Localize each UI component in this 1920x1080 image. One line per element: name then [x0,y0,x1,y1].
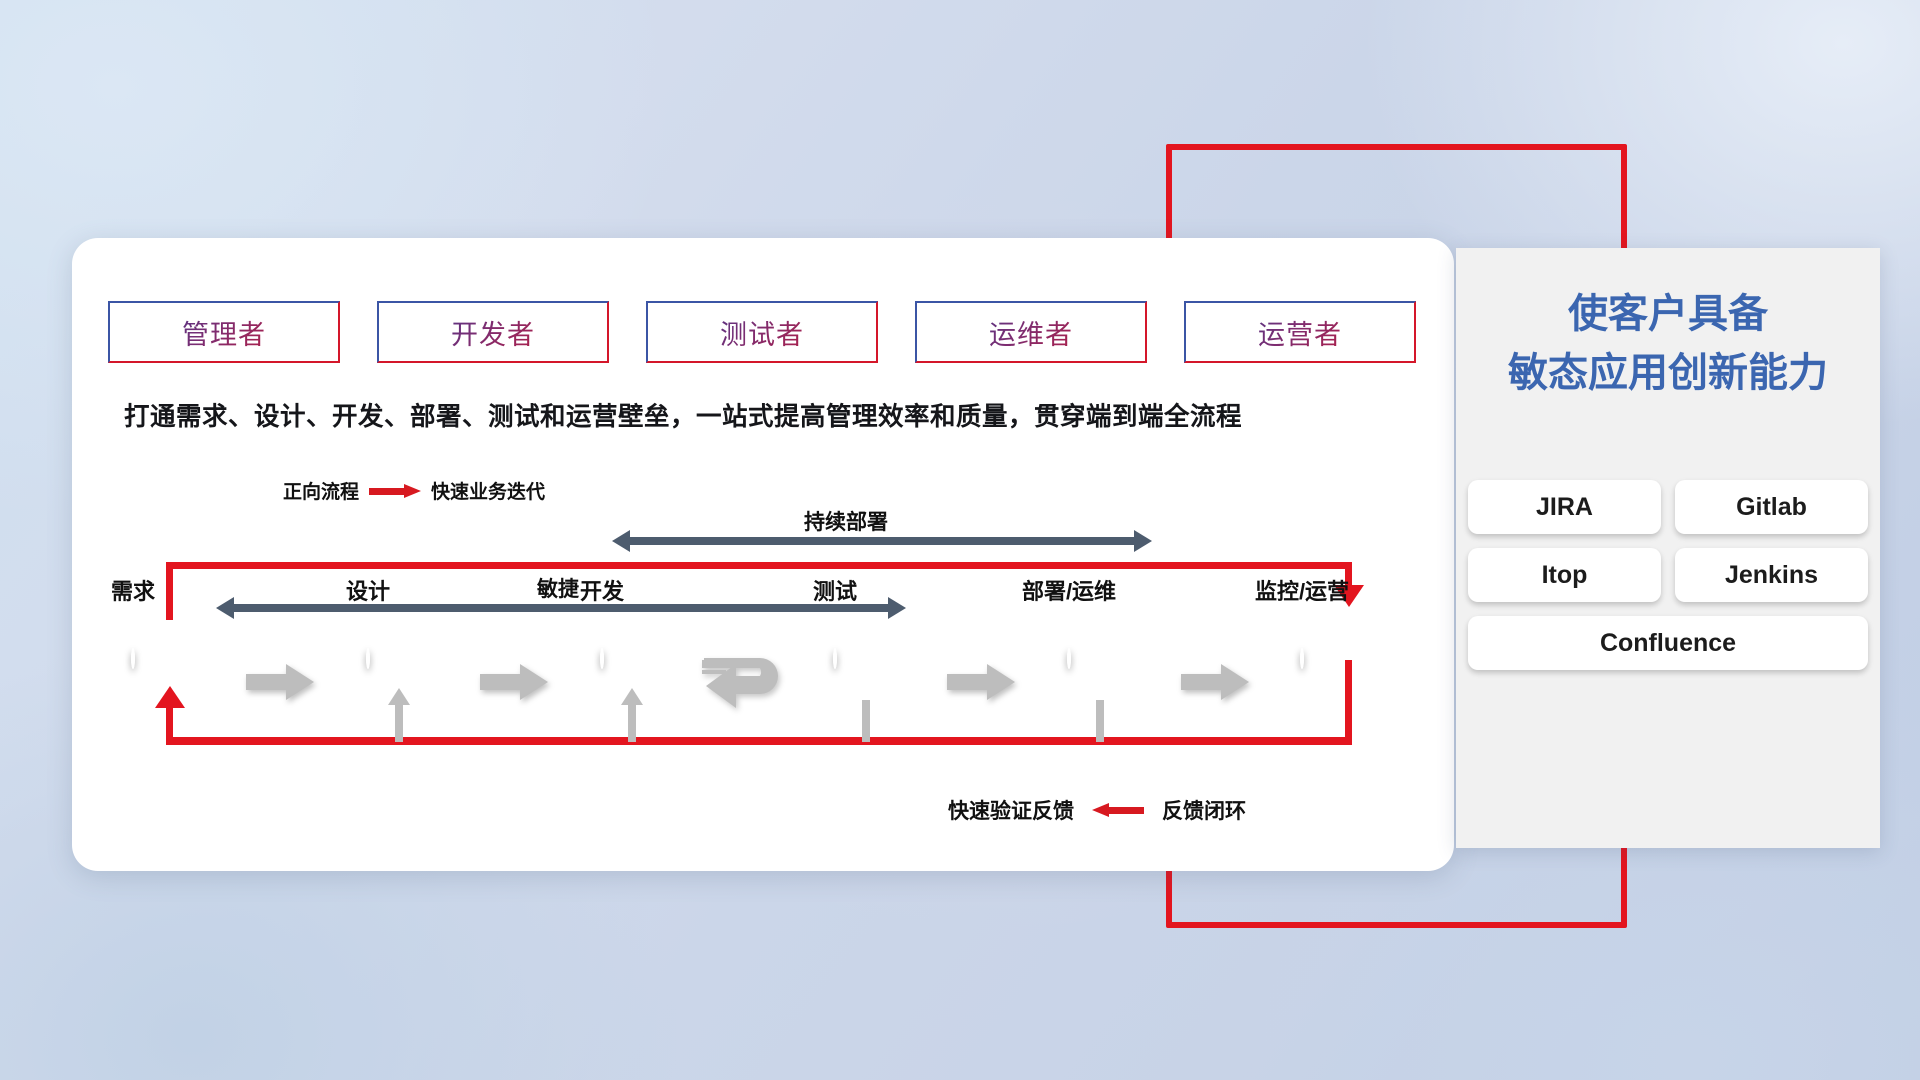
legend-forward-flow: 正向流程 快速业务迭代 [283,477,545,504]
pipeline-loop-left-up [166,705,173,745]
panel-title: 使客户具备 敏态应用创新能力 [1456,290,1880,398]
legend-feedback-left-label: 快速验证反馈 [948,795,1074,825]
panel-title-line1: 使客户具备 [1456,290,1880,339]
stage-dot-design [366,648,370,669]
stage-label-requirement: 需求 [111,574,155,606]
stem-deploy [1096,700,1104,742]
pipeline-loop-right-side [1345,660,1352,745]
legend-forward-left-label: 正向流程 [283,477,359,504]
pipeline-arrowhead-up [155,686,185,708]
stage-monitor-operate[interactable]: 监控/运营 [1300,650,1304,668]
stem-design [395,700,403,742]
panel-title-line2: 敏态应用创新能力 [1456,349,1880,398]
span-arrow-continuous-deployment [612,530,1152,552]
legend-forward-right-label: 快速业务迭代 [431,477,545,504]
stage-dot-develop [600,648,604,669]
stem-test [862,700,870,742]
pipeline-loop-bottom [166,737,1352,745]
red-arrow-right-icon [369,484,421,498]
block-arrow-req-to-design [246,662,314,702]
tool-chip-jira[interactable]: JIRA [1468,480,1661,534]
stem-arrow-develop [621,688,643,705]
pipeline-loop-top [166,562,1352,569]
role-chip-row: 管理者 开发者 测试者 运维者 运营者 [108,301,1416,363]
stage-dot-test [833,648,837,669]
role-chip-ops[interactable]: 运维者 [915,301,1147,363]
stem-develop [628,700,636,742]
stage-test[interactable]: 测试 [833,650,837,668]
red-arrow-left-icon [1092,803,1144,817]
role-chip-tester[interactable]: 测试者 [646,301,878,363]
stage-dot-requirement [131,648,135,669]
ci-loop-arrow-icon [700,652,796,714]
block-arrow-test-to-deploy [947,662,1015,702]
role-chip-business[interactable]: 运营者 [1184,301,1416,363]
stage-label-monitor-operate: 监控/运营 [1255,574,1349,606]
role-chip-developer[interactable]: 开发者 [377,301,609,363]
stage-label-test: 测试 [813,574,857,606]
tool-chip-confluence[interactable]: Confluence [1468,616,1868,670]
pipeline-loop-left-stub [166,562,173,620]
tool-chip-jenkins[interactable]: Jenkins [1675,548,1868,602]
stage-deploy-ops[interactable]: 部署/运维 [1067,650,1071,668]
role-chip-manager[interactable]: 管理者 [108,301,340,363]
stage-develop[interactable]: 开发 [600,650,604,668]
stem-arrow-design [388,688,410,705]
tool-chip-itop[interactable]: Itop [1468,548,1661,602]
stage-requirement[interactable]: 需求 [131,650,135,668]
tool-chip-list: JIRA Gitlab Itop Jenkins Confluence [1468,480,1868,670]
stage-label-develop: 开发 [580,574,624,606]
stage-dot-monitor-operate [1300,648,1304,669]
headline-text: 打通需求、设计、开发、部署、测试和运营壁垒，一站式提高管理效率和质量，贯穿端到端… [124,396,1424,433]
legend-feedback-right-label: 反馈闭环 [1162,795,1246,825]
stage-label-design: 设计 [346,574,390,606]
tool-chip-gitlab[interactable]: Gitlab [1675,480,1868,534]
block-arrow-design-to-develop [480,662,548,702]
legend-feedback-loop: 快速验证反馈 反馈闭环 [948,795,1246,825]
span-arrow-agile [216,597,906,619]
stage-dot-deploy-ops [1067,648,1071,669]
block-arrow-deploy-to-monitor [1181,662,1249,702]
stage-design[interactable]: 设计 [366,650,370,668]
stage-label-deploy-ops: 部署/运维 [1022,574,1116,606]
